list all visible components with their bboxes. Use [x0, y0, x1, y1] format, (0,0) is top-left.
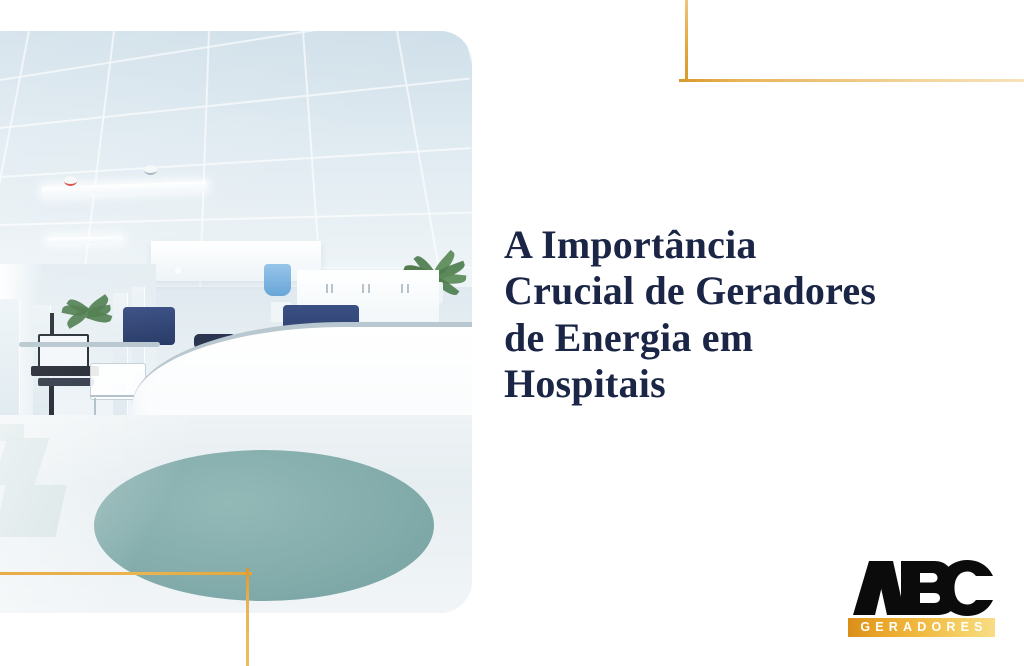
sprinkler-head [64, 176, 77, 186]
cabinet-handle [407, 284, 409, 293]
desk-left-edge [19, 342, 161, 347]
cabinet-handle [368, 284, 370, 293]
floor-reflection [0, 415, 283, 613]
abc-geradores-logo[interactable]: GERADORES [845, 558, 995, 644]
hero-photo [0, 31, 472, 613]
logo-tagline-text: GERADORES [855, 621, 987, 634]
medical-cart-tray [31, 366, 99, 375]
decoration-horizontal-line [679, 79, 1024, 82]
sprinkler-head [144, 165, 157, 175]
decoration-vertical-line [685, 0, 688, 82]
decoration-top-right-rule [685, 0, 1024, 82]
cabinet-handle [362, 284, 364, 293]
medical-cart-keyboard [38, 378, 95, 386]
recessed-downlight [170, 267, 186, 274]
logo-tagline-bar: GERADORES [848, 618, 995, 637]
cabinet-handle [326, 284, 328, 293]
medical-cart-monitor [38, 334, 89, 368]
abc-wordmark-icon [845, 558, 995, 618]
hospital-scene [0, 31, 472, 613]
page-title: A Importância Crucial de Geradores de En… [504, 222, 974, 408]
reception-chair [123, 307, 175, 345]
cabinet-handle [401, 284, 403, 293]
banner-canvas: A Importância Crucial de Geradores de En… [0, 0, 1024, 666]
water-cooler-bottle [264, 264, 291, 296]
plant-left [61, 290, 121, 330]
cabinet-handle [331, 284, 333, 293]
ceiling-soffit [151, 241, 321, 282]
